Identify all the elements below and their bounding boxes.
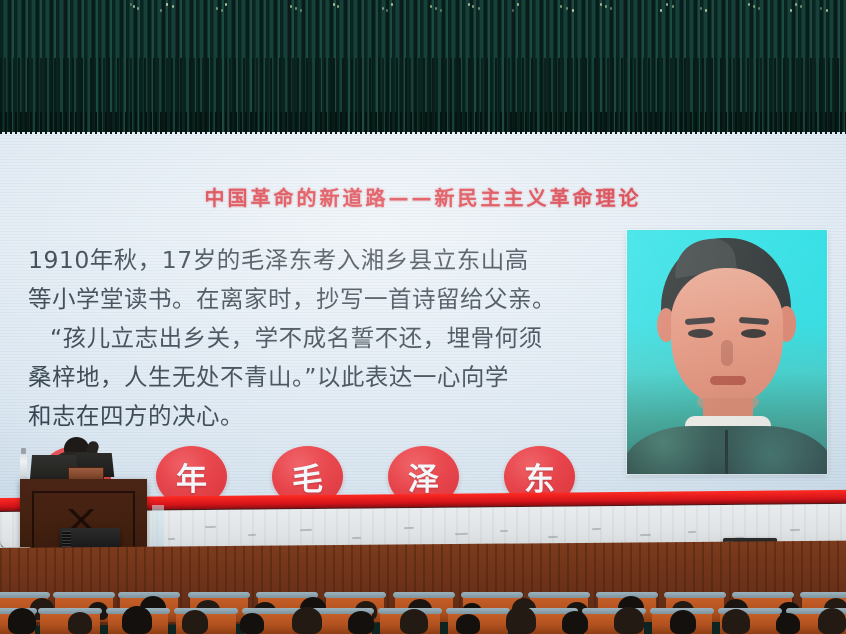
portrait-nose <box>721 340 733 366</box>
audience-head <box>122 606 152 634</box>
slide-line-1: 1910年秋，17岁的毛泽东考入湘乡县立东山高 <box>28 241 593 280</box>
bottle-cap <box>21 448 26 454</box>
audience-head <box>670 610 696 634</box>
ceiling-light-specks <box>0 0 846 18</box>
water-bottle <box>20 453 27 480</box>
curtain-hem <box>0 112 846 134</box>
audience-head <box>818 608 846 634</box>
portrait-mouth <box>710 376 746 385</box>
audience-head <box>182 610 208 634</box>
audience-head <box>240 613 264 634</box>
slide-title: 中国革命的新道路——新民主主义革命理论 <box>0 182 846 211</box>
audience-head <box>562 611 588 634</box>
portrait-eye-right <box>741 329 766 338</box>
audience-head <box>456 614 480 634</box>
audience-rows <box>0 584 846 634</box>
audience-head <box>292 607 322 634</box>
audience-head <box>776 613 800 634</box>
slide-body-text: 1910年秋，17岁的毛泽东考入湘乡县立东山高 等小学堂读书。在离家时，抄写一首… <box>28 241 593 436</box>
auditorium-stage-photo: 中国革命的新道路——新民主主义革命理论 1910年秋，17岁的毛泽东考入湘乡县立… <box>0 0 846 634</box>
slide-line-4: 桑梓地，人生无处不青山。”以此表达一心向学 <box>28 358 593 397</box>
portrait-young-mao-zedong <box>627 230 827 474</box>
audience-head <box>506 606 536 634</box>
slide-line-2: 等小学堂读书。在离家时，抄写一首诗留给父亲。 <box>28 280 593 319</box>
audience-head <box>348 611 374 634</box>
portrait-jacket-seam <box>725 430 728 474</box>
slide-line-3: “孩儿立志出乡关，学不成名誓不还，埋骨何须 <box>28 319 593 358</box>
portrait-eye-left <box>688 329 713 338</box>
projection-screen: 中国革命的新道路——新民主主义革命理论 1910年秋，17岁的毛泽东考入湘乡县立… <box>0 78 846 508</box>
audience-head <box>8 608 36 634</box>
audience-head <box>722 609 750 634</box>
slide-line-5: 和志在四方的决心。 <box>28 397 593 436</box>
audience-head <box>400 609 428 634</box>
stage-curtain <box>0 0 846 132</box>
audience-head <box>614 607 644 634</box>
audience-head <box>68 612 92 634</box>
